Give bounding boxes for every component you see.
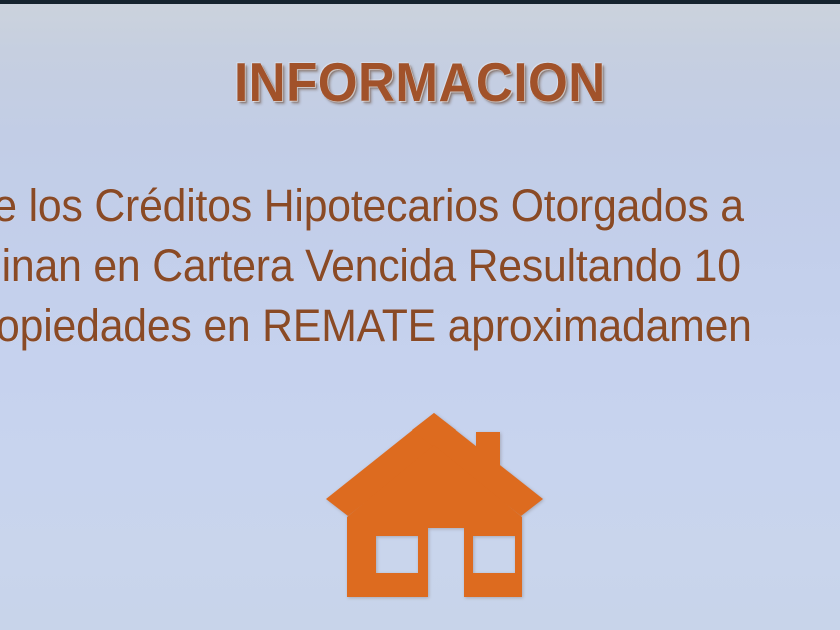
slide-title-container: INFORMACION	[0, 54, 840, 112]
house-icon	[316, 405, 556, 605]
house-graphic-container	[316, 405, 556, 605]
slide-body-text: le los Créditos Hipotecarios Otorgados a…	[0, 178, 840, 378]
presentation-slide: INFORMACION le los Créditos Hipotecarios…	[0, 0, 840, 630]
top-edge-bar	[0, 0, 840, 4]
body-text-line-3: ropiedades en REMATE aproximadamen	[0, 300, 752, 352]
body-text-line-1: le los Créditos Hipotecarios Otorgados a	[0, 180, 744, 232]
slide-title: INFORMACION	[234, 54, 606, 112]
body-text-line-2: ninan en Cartera Vencida Resultando 10	[0, 240, 741, 292]
